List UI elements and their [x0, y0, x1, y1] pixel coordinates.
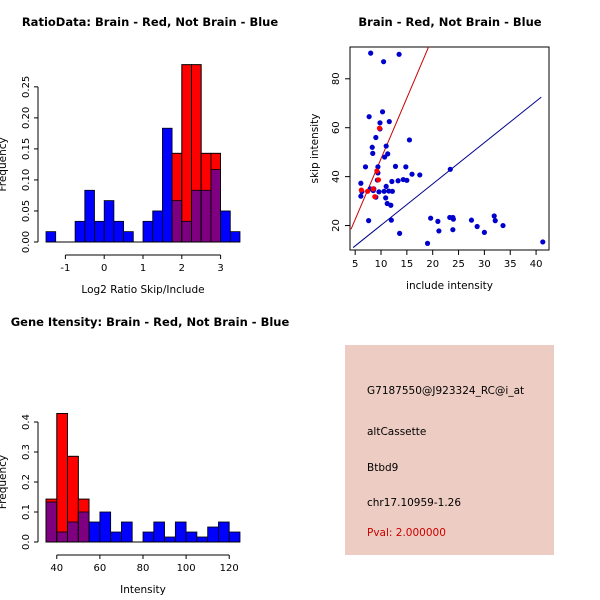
histogram-bar-overlap — [211, 170, 221, 242]
gene-intensity-panel: Gene Itensity: Brain - Red, Not Brain - … — [0, 300, 300, 600]
histogram-bar-overlap — [68, 522, 79, 542]
histogram-bar-overlap — [201, 190, 211, 242]
histogram-bar-overlap — [192, 190, 202, 242]
histogram-bar-not-brain — [95, 221, 105, 242]
histogram-bar-not-brain — [143, 532, 154, 542]
x-tick-label: 2 — [179, 263, 185, 274]
annotation-box: G7187550@J923324_RC@i_at altCassette Btb… — [345, 345, 554, 555]
scatter-point-not-brain — [403, 164, 408, 169]
histogram-bar-not-brain — [143, 221, 153, 242]
scatter-point-not-brain — [381, 59, 386, 64]
probe-id-text: G7187550@J923324_RC@i_at — [367, 385, 524, 397]
pvalue-text: Pval: 2.000000 — [367, 527, 446, 539]
scatter-point-not-brain — [366, 218, 371, 223]
annotation-panel: G7187550@J923324_RC@i_at altCassette Btb… — [300, 300, 600, 600]
x-tick-label: 10 — [375, 259, 388, 270]
histogram-bar-not-brain — [121, 522, 132, 542]
x-tick-label: 60 — [94, 563, 107, 574]
scatter-point-not-brain — [482, 230, 487, 235]
x-axis-label: include intensity — [406, 280, 493, 292]
histogram-bar-not-brain — [162, 128, 172, 242]
scatter-point-brain — [371, 186, 376, 191]
scatter-point-not-brain — [397, 231, 402, 236]
scatter-point-brain — [365, 189, 370, 194]
ratio-histogram-panel: RatioData: Brain - Red, Not Brain - Blue… — [0, 0, 300, 300]
histogram-bar-not-brain — [218, 522, 229, 542]
histogram-bar-not-brain — [230, 232, 240, 242]
scatter-point-not-brain — [377, 120, 382, 125]
histogram-bar-brain — [57, 413, 68, 542]
ratio-histogram-plot: 0.000.050.100.150.200.25Frequency-10123L… — [0, 0, 300, 300]
scatter-point-not-brain — [428, 216, 433, 221]
scatter-point-not-brain — [387, 119, 392, 124]
y-axis-label: Frequency — [0, 455, 9, 509]
y-tick-label: 40 — [331, 170, 342, 183]
y-tick-label: 0.20 — [21, 107, 32, 129]
scatter-point-brain — [377, 126, 382, 131]
histogram-bar-not-brain — [229, 532, 240, 542]
y-tick-label: 0.15 — [21, 138, 32, 160]
scatter-point-not-brain — [500, 223, 505, 228]
y-tick-label: 0.4 — [21, 414, 32, 430]
y-tick-label: 0.0 — [21, 534, 32, 550]
histogram-bar-not-brain — [89, 522, 100, 542]
histogram-bar-overlap — [172, 201, 182, 242]
scatter-point-brain — [376, 177, 381, 182]
y-tick-label: 0.3 — [21, 444, 32, 460]
identity-line — [353, 97, 541, 247]
scatter-point-not-brain — [370, 151, 375, 156]
scatter-point-not-brain — [382, 154, 387, 159]
scatter-point-brain — [359, 187, 364, 192]
scatter-point-not-brain — [417, 172, 422, 177]
scatter-point-not-brain — [492, 213, 497, 218]
x-tick-label: 20 — [426, 259, 439, 270]
histogram-bar-not-brain — [111, 532, 122, 542]
x-tick-label: -1 — [60, 263, 70, 274]
y-tick-label: 0.10 — [21, 169, 32, 191]
x-tick-label: 0 — [101, 263, 107, 274]
x-tick-label: 35 — [504, 259, 517, 270]
y-tick-label: 20 — [331, 219, 342, 232]
histogram-bar-overlap — [57, 532, 68, 542]
scatter-point-not-brain — [367, 114, 372, 119]
x-axis-label: Log2 Ratio Skip/Include — [81, 284, 204, 296]
histogram-bar-not-brain — [85, 190, 95, 242]
histogram-bar-overlap — [46, 502, 57, 542]
scatter-point-not-brain — [469, 218, 474, 223]
y-tick-label: 0.1 — [21, 504, 32, 520]
x-tick-label: 120 — [220, 563, 239, 574]
y-tick-label: 0.05 — [21, 200, 32, 222]
scatter-point-not-brain — [540, 239, 545, 244]
gene-intensity-plot: 0.00.10.20.30.4Frequency406080100120Inte… — [0, 300, 300, 600]
scatter-point-not-brain — [407, 137, 412, 142]
scatter-point-not-brain — [389, 218, 394, 223]
y-axis-label: skip intensity — [309, 114, 321, 184]
x-tick-label: 40 — [50, 563, 63, 574]
scatter-point-not-brain — [373, 135, 378, 140]
histogram-bar-not-brain — [114, 221, 124, 242]
scatter-point-not-brain — [384, 143, 389, 148]
locus-text: chr17.10959-1.26 — [367, 497, 461, 509]
histogram-bar-overlap — [78, 512, 89, 542]
scatter-point-not-brain — [404, 178, 409, 183]
scatter-point-not-brain — [450, 227, 455, 232]
histogram-bar-not-brain — [100, 512, 111, 542]
x-axis-label: Intensity — [120, 584, 166, 596]
x-tick-label: 30 — [478, 259, 491, 270]
histogram-bar-not-brain — [175, 522, 186, 542]
histogram-bar-not-brain — [104, 201, 114, 242]
scatter-point-not-brain — [358, 194, 363, 199]
histogram-bar-not-brain — [154, 522, 165, 542]
y-tick-label: 80 — [331, 72, 342, 85]
scatter-point-not-brain — [435, 219, 440, 224]
scatter-point-not-brain — [363, 164, 368, 169]
scatter-point-not-brain — [475, 224, 480, 229]
histogram-bar-not-brain — [124, 232, 134, 242]
x-tick-label: 80 — [137, 563, 150, 574]
scatter-point-not-brain — [397, 52, 402, 57]
scatter-point-not-brain — [395, 178, 400, 183]
y-tick-label: 60 — [331, 121, 342, 134]
histogram-bar-overlap — [182, 221, 192, 242]
scatter-point-not-brain — [448, 167, 453, 172]
x-tick-label: 100 — [177, 563, 196, 574]
scatter-point-not-brain — [384, 184, 389, 189]
scatter-point-not-brain — [389, 179, 394, 184]
histogram-bar-not-brain — [153, 211, 163, 242]
scatter-point-not-brain — [358, 181, 363, 186]
intensity-scatter-plot: 20406080skip intensity510152025303540inc… — [300, 0, 600, 300]
histogram-bar-not-brain — [208, 527, 219, 542]
y-tick-label: 0.00 — [21, 231, 32, 253]
scatter-point-not-brain — [493, 218, 498, 223]
scatter-point-not-brain — [425, 241, 430, 246]
scatter-point-not-brain — [451, 217, 456, 222]
scatter-point-not-brain — [376, 189, 381, 194]
scatter-point-not-brain — [390, 189, 395, 194]
scatter-point-not-brain — [380, 109, 385, 114]
scatter-point-not-brain — [436, 228, 441, 233]
histogram-bar-not-brain — [46, 232, 56, 242]
scatter-point-not-brain — [393, 164, 398, 169]
y-tick-label: 0.2 — [21, 474, 32, 490]
x-tick-label: 3 — [217, 263, 223, 274]
y-axis-label: Frequency — [0, 137, 9, 191]
y-tick-label: 0.25 — [21, 76, 32, 98]
x-tick-label: 40 — [530, 259, 543, 270]
scatter-point-not-brain — [368, 51, 373, 56]
histogram-bar-brain — [182, 65, 192, 242]
event-type-text: altCassette — [367, 426, 426, 438]
scatter-point-not-brain — [409, 172, 414, 177]
histogram-bar-not-brain — [197, 537, 208, 542]
x-tick-label: 25 — [452, 259, 465, 270]
scatter-point-not-brain — [382, 189, 387, 194]
histogram-bar-not-brain — [75, 221, 85, 242]
scatter-point-not-brain — [388, 203, 393, 208]
histogram-bar-not-brain — [165, 537, 176, 542]
scatter-point-not-brain — [383, 195, 388, 200]
x-tick-label: 15 — [400, 259, 413, 270]
x-tick-label: 5 — [352, 259, 358, 270]
x-tick-label: 1 — [140, 263, 146, 274]
gene-symbol-text: Btbd9 — [367, 462, 398, 474]
histogram-bar-not-brain — [186, 532, 197, 542]
fit-line-brain — [351, 46, 429, 229]
scatter-point-not-brain — [370, 145, 375, 150]
scatter-point-brain — [372, 194, 377, 199]
scatter-point-brain — [374, 168, 379, 173]
histogram-bar-not-brain — [221, 211, 231, 242]
intensity-scatter-panel: Brain - Red, Not Brain - Blue 20406080sk… — [300, 0, 600, 300]
